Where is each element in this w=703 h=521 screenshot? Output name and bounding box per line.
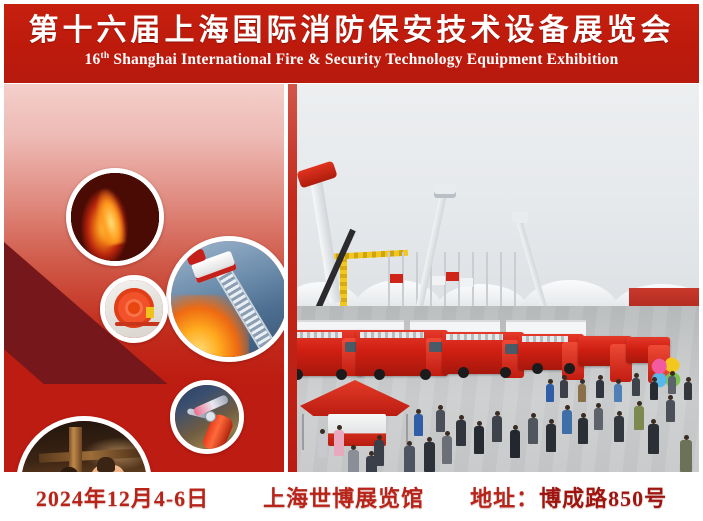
visitor	[578, 384, 586, 402]
fire-truck	[578, 336, 632, 366]
firefighters-photo-bubble	[16, 416, 152, 472]
visitor	[456, 420, 466, 446]
visitor	[528, 418, 538, 444]
visitor	[668, 376, 676, 394]
event-venue: 上海世博展览馆	[263, 481, 424, 513]
fire-extinguisher-image	[175, 385, 239, 449]
visitor	[562, 410, 572, 434]
exhibition-ground-photo	[288, 84, 699, 472]
visitor	[684, 382, 692, 400]
truck-ladder	[446, 334, 503, 340]
exhibition-poster: 第十六届上海国际消防保安技术设备展览会 16th Shanghai Intern…	[0, 0, 703, 521]
truck-wheel	[532, 363, 543, 374]
header-underline	[4, 78, 699, 83]
aerial-ladder-photo-bubble	[166, 236, 284, 362]
aerial-boom-left-basket	[434, 184, 456, 198]
truck-ladder	[522, 336, 568, 342]
visitor	[632, 378, 640, 396]
visitor	[650, 382, 658, 400]
truck-wheel	[564, 363, 575, 374]
visitor	[594, 408, 603, 430]
visitor	[634, 406, 644, 430]
flag-red	[446, 272, 459, 281]
tent-leg	[302, 414, 304, 450]
fire-truck	[288, 330, 364, 376]
fire-extinguisher-photo-bubble	[170, 380, 244, 454]
visitor	[492, 416, 502, 442]
header-edition-suffix: th	[100, 51, 109, 61]
visitor	[436, 410, 445, 432]
hose-reel-tag	[146, 307, 154, 318]
visitor	[348, 450, 359, 472]
hose-line	[115, 322, 161, 326]
header-title-chinese: 第十六届上海国际消防保安技术设备展览会	[29, 15, 675, 47]
header-title-english-rest: Shanghai International Fire & Security T…	[109, 51, 618, 68]
hose-reel-image	[105, 280, 163, 338]
visitor	[442, 436, 452, 464]
visitor	[546, 384, 554, 402]
hose-reel-photo-bubble	[100, 275, 168, 343]
scene-pillar	[69, 427, 82, 472]
photo-left-red-strip	[288, 84, 297, 472]
firefighters-image	[21, 421, 147, 472]
visitor	[578, 418, 588, 444]
visitor	[648, 424, 659, 454]
fire-truck	[442, 332, 524, 374]
fire-truck	[356, 330, 448, 376]
truck-wheel	[420, 369, 431, 380]
visitor	[666, 400, 675, 422]
aerial-boom-right-basket	[512, 212, 528, 223]
visitor	[404, 446, 415, 472]
hose-reel-inner	[125, 299, 143, 317]
fire-truck	[518, 334, 584, 370]
truck-ladder	[360, 332, 424, 338]
visitor	[596, 380, 604, 398]
extinguisher-gauge	[205, 411, 216, 422]
truck-wheel	[500, 367, 511, 378]
flag-red	[390, 274, 403, 283]
event-date: 2024年12月4-6日	[36, 481, 209, 513]
footer-row: 2024年12月4-6日 上海世博展览馆 地址： 博成路850号	[36, 481, 667, 513]
truck-wheel	[458, 367, 469, 378]
truck-wheel	[374, 369, 385, 380]
firefighter-two-helmet	[97, 457, 115, 472]
visitor	[546, 424, 556, 452]
visitor	[510, 430, 520, 458]
visitor	[614, 384, 622, 402]
poster-header: 第十六届上海国际消防保安技术设备展览会 16th Shanghai Intern…	[4, 4, 699, 78]
visitor	[424, 442, 435, 472]
visitor	[366, 456, 377, 472]
flag-white	[432, 276, 445, 285]
poster-footer: 2024年12月4-6日 上海世博展览馆 地址： 博成路850号	[0, 472, 703, 521]
address-value: 博成路850号	[539, 481, 667, 513]
visitor	[318, 434, 327, 458]
aerial-ladder-image	[171, 241, 284, 357]
visitor	[680, 440, 692, 472]
header-title-english: 16th Shanghai International Fire & Secur…	[85, 51, 619, 69]
left-graphic-panel	[4, 84, 284, 472]
truck-wheel	[336, 369, 347, 380]
visitor	[414, 414, 423, 436]
visitor	[334, 430, 344, 456]
address-label: 地址：	[470, 481, 539, 513]
flames-photo-bubble	[66, 168, 164, 266]
visitor	[614, 416, 624, 442]
visitor	[560, 380, 568, 398]
header-edition-number: 16	[85, 51, 101, 68]
flames-image	[71, 173, 159, 261]
flag-white	[460, 278, 473, 287]
visitor	[474, 426, 484, 454]
